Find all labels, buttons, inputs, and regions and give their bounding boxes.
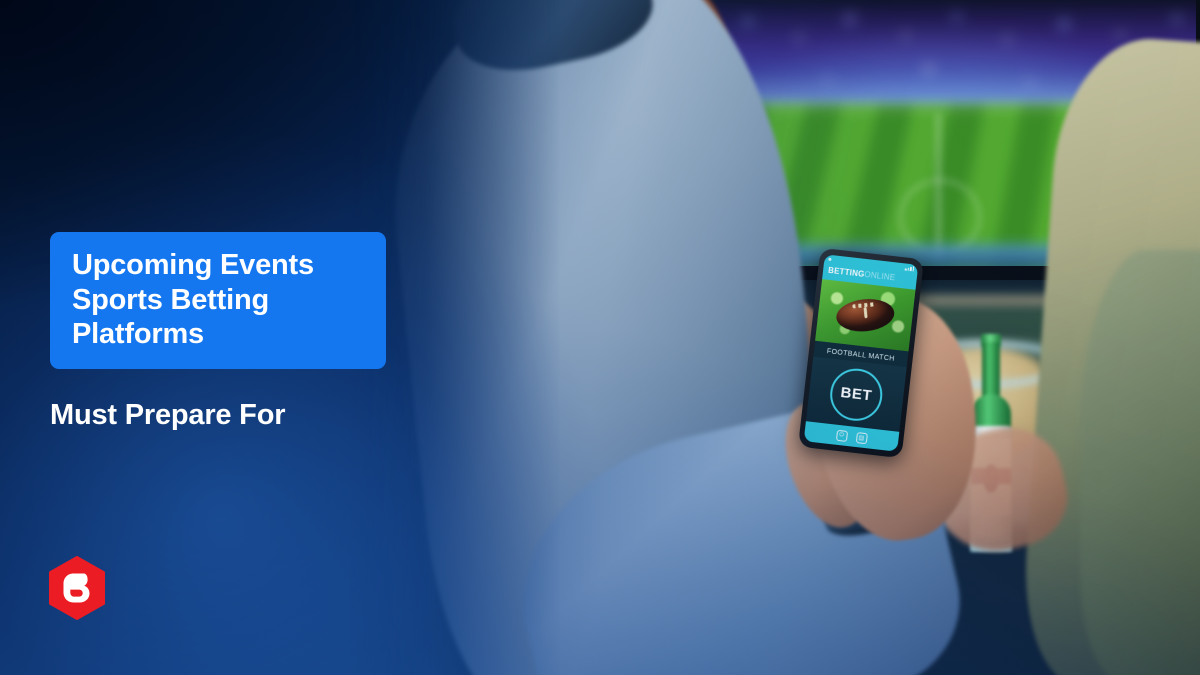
banner-root: BETTINGONLINE FOOTBALL MATCH BET ⏻ ▤ bbox=[0, 0, 1200, 675]
headline-line-1: Upcoming Events bbox=[72, 248, 364, 283]
brand-logo[interactable] bbox=[48, 556, 106, 620]
headline-highlight-box: Upcoming Events Sports Betting Platforms bbox=[50, 232, 386, 369]
headline-subhead: Must Prepare For bbox=[50, 398, 285, 433]
content-layer: Upcoming Events Sports Betting Platforms… bbox=[0, 0, 1200, 675]
headline-line-2: Sports Betting bbox=[72, 283, 364, 318]
brand-logo-hexagon-b-icon bbox=[48, 556, 106, 620]
headline-line-3: Platforms bbox=[72, 317, 364, 352]
